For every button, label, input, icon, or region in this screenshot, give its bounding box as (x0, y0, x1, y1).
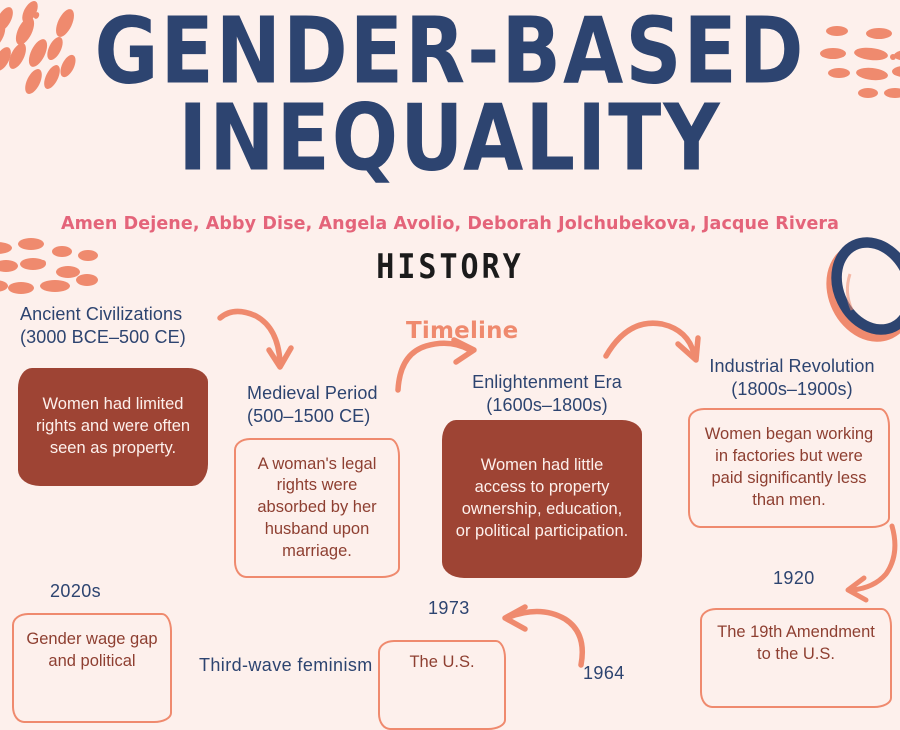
era-years: (500–1500 CE) (247, 405, 378, 428)
timeline-card-industrial: Women began working in factories but wer… (688, 408, 890, 528)
arrow-ancient-to-medieval-icon (212, 300, 322, 380)
era-name: Medieval Period (247, 383, 378, 403)
title-line-2: INEQUALITY (0, 95, 900, 182)
authors-line: Amen Dejene, Abby Dise, Angela Avolio, D… (0, 214, 900, 234)
era-label-ancient: Ancient Civilizations (3000 BCE–500 CE) (20, 303, 186, 348)
year-label-2020s: 2020s (50, 581, 101, 602)
era-label-medieval: Medieval Period (500–1500 CE) (247, 382, 378, 427)
era-name: Ancient Civilizations (20, 304, 182, 324)
year-label-1964: 1964 (583, 663, 625, 684)
poster-canvas: GENDER-BASED INEQUALITY Amen Dejene, Abb… (0, 0, 900, 675)
era-name: Enlightenment Era (472, 372, 622, 392)
page-title: GENDER-BASED INEQUALITY (0, 8, 900, 183)
timeline-card-1920: The 19th Amendment to the U.S. (700, 608, 892, 708)
era-years: (3000 BCE–500 CE) (20, 326, 186, 349)
section-heading-history: HISTORY (0, 248, 900, 287)
era-name: Industrial Revolution (709, 356, 874, 376)
era-years: (1600s–1800s) (452, 394, 642, 417)
year-label-third-wave: Third-wave feminism (199, 655, 373, 676)
era-label-industrial: Industrial Revolution (1800s–1900s) (694, 355, 890, 400)
arrow-industrial-to-1920-icon (842, 522, 900, 600)
era-years: (1800s–1900s) (694, 378, 890, 401)
timeline-card-enlightenment: Women had little access to property owne… (442, 420, 642, 578)
timeline-card-ancient: Women had limited rights and were often … (18, 368, 208, 486)
year-label-1973: 1973 (428, 598, 470, 619)
year-label-1920: 1920 (773, 568, 815, 589)
timeline-card-medieval: A woman's legal rights were absorbed by … (234, 438, 400, 578)
timeline-card-2020s: Gender wage gap and political (12, 613, 172, 723)
timeline-card-1973: The U.S. (378, 640, 506, 730)
era-label-enlightenment: Enlightenment Era (1600s–1800s) (452, 371, 642, 416)
